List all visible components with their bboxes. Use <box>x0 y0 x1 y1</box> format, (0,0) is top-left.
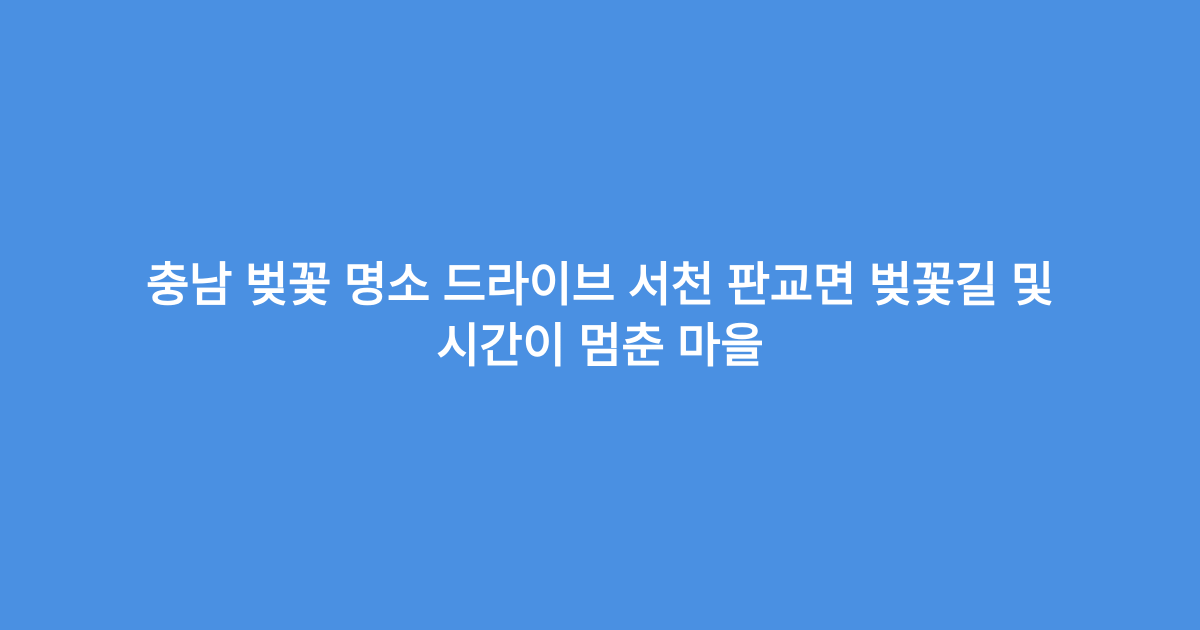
og-share-card: 충남 벚꽃 명소 드라이브 서천 판교면 벚꽃길 및 시간이 멈춘 마을 <box>0 0 1200 630</box>
page-title: 충남 벚꽃 명소 드라이브 서천 판교면 벚꽃길 및 시간이 멈춘 마을 <box>85 254 1115 376</box>
title-block: 충남 벚꽃 명소 드라이브 서천 판교면 벚꽃길 및 시간이 멈춘 마을 <box>85 254 1115 376</box>
